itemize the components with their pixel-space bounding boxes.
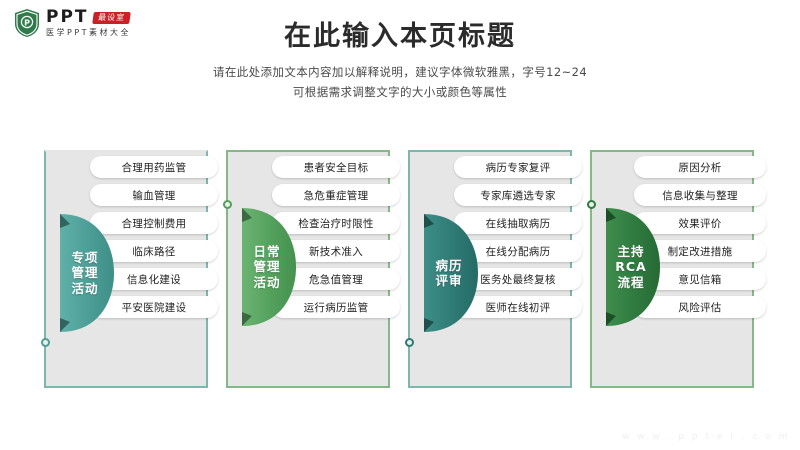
column-2: 患者安全目标 急危重症管理 检查治疗时限性 新技术准入 危急值管理 运行病历监管 [220, 150, 402, 396]
columns-board: 合理用药监管 输血管理 合理控制费用 临床路径 信息化建设 平安医院建设 [38, 150, 766, 396]
page-title: 在此输入本页标题 [0, 14, 800, 53]
subtitle-line-2: 可根据需求调整文字的大小或颜色等属性 [0, 82, 800, 102]
column-1: 合理用药监管 输血管理 合理控制费用 临床路径 信息化建设 平安医院建设 [38, 150, 220, 396]
subtitle-line-1: 请在此处添加文本内容加以解释说明，建议字体微软雅黑，字号12~24 [0, 62, 800, 82]
column-4-leaf-badge[interactable]: 主持 RCA 流程 [600, 200, 662, 334]
column-3-connector-dot [405, 338, 414, 347]
column-1-leaf-badge[interactable]: 专项 管理 活动 [54, 206, 116, 340]
column-1-connector-dot [41, 338, 50, 347]
list-item[interactable]: 原因分析 [634, 156, 766, 178]
page-subtitle: 请在此处添加文本内容加以解释说明，建议字体微软雅黑，字号12~24 可根据需求调… [0, 62, 800, 102]
list-item[interactable]: 合理用药监管 [90, 156, 218, 178]
column-3-leaf-badge[interactable]: 病历 评审 [418, 206, 480, 340]
site-watermark: w w w . p p t e r . c o m [622, 432, 790, 442]
list-item[interactable]: 病历专家复评 [454, 156, 582, 178]
column-3: 病历专家复评 专家库遴选专家 在线抽取病历 在线分配病历 医务处最终复核 医师在… [402, 150, 584, 396]
list-item[interactable]: 输血管理 [90, 184, 218, 206]
list-item[interactable]: 专家库遴选专家 [454, 184, 582, 206]
column-2-connector-dot [223, 200, 232, 209]
column-4: 原因分析 信息收集与整理 效果评价 制定改进措施 意见信箱 风险评估 [584, 150, 766, 396]
column-4-connector-dot [587, 200, 596, 209]
column-2-leaf-badge[interactable]: 日常 管理 活动 [236, 200, 298, 334]
list-item[interactable]: 患者安全目标 [272, 156, 400, 178]
